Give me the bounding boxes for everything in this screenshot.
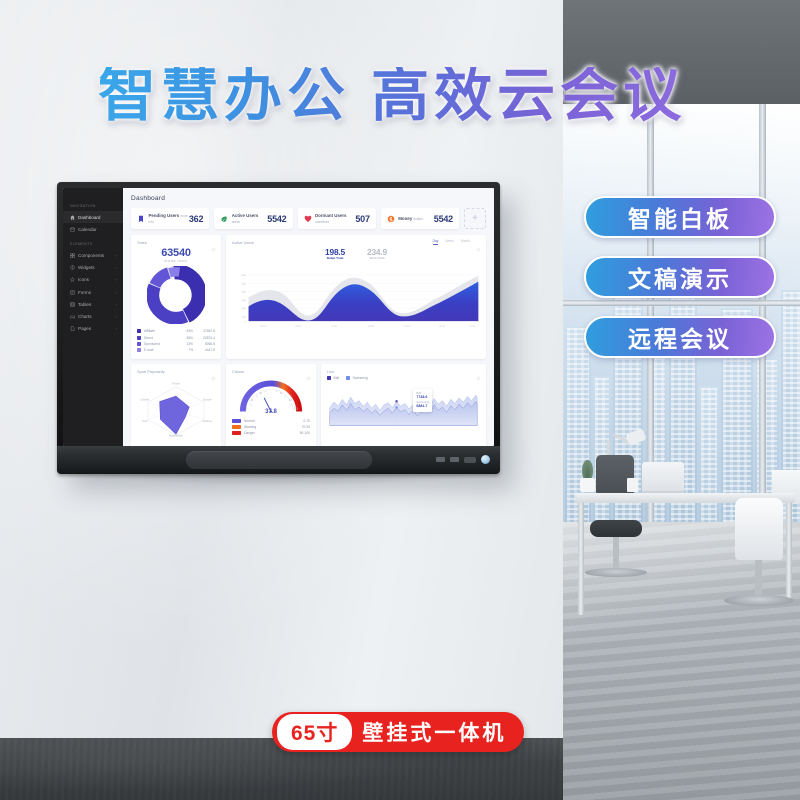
chevron-right-icon: › — [116, 314, 117, 319]
sidebar-item-label: Components — [78, 253, 104, 258]
laptop — [642, 462, 684, 494]
chevron-right-icon: › — [116, 253, 117, 258]
legend-amount: 8060.8 — [193, 342, 215, 346]
svg-text:Golf: Golf — [142, 418, 147, 422]
svg-text:1500: 1500 — [241, 300, 247, 302]
gear-icon[interactable] — [211, 368, 216, 373]
sidebar-section-navigation: NAVIGATION — [63, 197, 123, 211]
stat-value: 5542 — [434, 214, 453, 224]
sidebar-item-icons[interactable]: Icons › — [63, 274, 123, 286]
svg-text:Hockey: Hockey — [203, 418, 213, 422]
stat-sublabel: undefined — [315, 220, 329, 224]
claims-gauge-card: Claims — [226, 364, 316, 447]
gear-icon[interactable] — [476, 368, 481, 373]
legend-label: Ball — [334, 376, 340, 380]
port-cluster — [436, 455, 490, 464]
card-title: Sport Popularity — [137, 369, 215, 374]
sidebar-item-calendar[interactable]: Calendar — [63, 223, 123, 235]
legend-percent: 38% — [177, 336, 193, 340]
plant-pot — [580, 478, 595, 492]
grid-icon — [70, 253, 75, 258]
card-title: Claims — [232, 369, 310, 374]
stat-value: 5542 — [267, 214, 286, 224]
sales-total-value: 63540 — [137, 247, 215, 259]
legend-item: Ball — [327, 376, 339, 380]
legend-range: 0-70 — [288, 419, 310, 423]
stat-card-active-users[interactable]: Active Users active 5542 — [214, 208, 292, 229]
legend-swatch — [137, 342, 141, 346]
legend-item: Swimming — [346, 376, 368, 380]
svg-text:07-06: 07-06 — [295, 326, 301, 328]
pen-cup — [627, 478, 638, 492]
sidebar-item-label: Icons — [78, 277, 89, 282]
flow-total-label: Flow Total — [367, 256, 387, 260]
dollar-icon — [387, 215, 395, 223]
legend-amount: 4447.8 — [193, 348, 215, 352]
stat-label: Money dollars — [398, 216, 423, 222]
svg-text:2000: 2000 — [241, 292, 247, 294]
svg-text:100: 100 — [294, 407, 299, 410]
chair-post — [613, 537, 619, 571]
area-chart-tabs: Day Week Month — [433, 239, 470, 245]
sidebar-item-forms[interactable]: Forms › — [63, 286, 123, 298]
area-chart-plot: 3000 2500 2000 1500 1000 500 0 — [232, 262, 480, 336]
stat-card-pending-users[interactable]: Pending Users more info 362 — [131, 208, 209, 229]
legend-label: Direct — [144, 336, 177, 340]
svg-text:07-05: 07-05 — [261, 326, 267, 328]
donut-legend: Affiliate 44% 27867.8 Direct 38% 22874.4 — [137, 328, 215, 354]
form-icon — [70, 290, 75, 295]
feature-pill-whiteboard[interactable]: 智能白板 — [584, 196, 776, 238]
stat-value: 362 — [189, 214, 203, 224]
stat-value: 507 — [355, 214, 369, 224]
dashboard-content: Dashboard Pending Users more info — [123, 188, 494, 446]
sidebar-item-label: Tables — [78, 302, 91, 307]
feature-pill-conference[interactable]: 远程会议 — [584, 316, 776, 358]
tooltip-series-2-value: 6881.7 — [416, 404, 429, 409]
chart-row-2: Sport Popularity — [131, 364, 486, 447]
sidebar-item-label: Forms — [78, 290, 91, 295]
flow-total: 234.9 Flow Total — [367, 247, 387, 260]
desk-leg — [786, 503, 792, 599]
legend-label: Warning — [244, 425, 288, 429]
legend-amount: 22874.4 — [193, 336, 215, 340]
chart-row-1: Sales 63540 MORE INFO — [131, 235, 486, 359]
page-icon — [70, 326, 75, 331]
floor-right — [563, 522, 800, 800]
dashboard-sidebar: NAVIGATION Dashboard Calendar ELEMENTS C… — [63, 188, 123, 446]
svg-text:07-09: 07-09 — [405, 326, 411, 328]
potted-plant — [582, 460, 593, 480]
gauge-legend: Normal 0-70 Warning 70-90 — [232, 418, 310, 437]
leaf-icon — [220, 215, 228, 223]
poster-headline: 智慧办公 高效云会议 — [98, 67, 708, 125]
power-indicator-icon[interactable] — [481, 455, 490, 464]
legend-label: Normal — [244, 419, 288, 423]
stat-label: Pending Users more info — [149, 213, 189, 224]
line-chart-plot — [327, 381, 480, 437]
line-legend: Ball Swimming — [327, 376, 480, 380]
office-chair-light — [735, 498, 783, 560]
sidebar-item-label: Dashboard — [78, 215, 100, 220]
stat-label: Dormant Users undefined — [315, 213, 355, 224]
svg-text:60: 60 — [280, 391, 283, 394]
svg-text:Soccer: Soccer — [203, 397, 212, 401]
legend-amount: 27867.8 — [193, 329, 215, 333]
sidebar-item-label: Pages — [78, 326, 91, 331]
tab-week[interactable]: Week — [445, 239, 453, 245]
hdmi-port-icon — [450, 457, 459, 462]
sidebar-section-elements: ELEMENTS — [63, 235, 123, 249]
feature-pill-list: 智能白板 文稿演示 远程会议 — [584, 196, 784, 376]
svg-text:500: 500 — [243, 317, 247, 319]
svg-text:Basketball: Basketball — [170, 433, 183, 437]
legend-swatch — [137, 348, 141, 352]
chevron-right-icon: › — [116, 302, 117, 307]
legend-percent: 13% — [177, 342, 193, 346]
legend-swatch — [137, 336, 141, 340]
bullet-total-label: Bullet Total — [325, 256, 345, 260]
legend-label: Affiliate — [144, 329, 177, 333]
svg-text:2500: 2500 — [241, 283, 247, 285]
legend-swatch — [346, 376, 350, 380]
home-icon — [70, 215, 75, 220]
chair-post — [755, 560, 762, 598]
tab-day[interactable]: Day — [433, 239, 439, 245]
feature-pill-presentation[interactable]: 文稿演示 — [584, 256, 776, 298]
sidebar-item-widgets[interactable]: Widgets › — [63, 262, 123, 274]
badge-type-label: 壁挂式一体机 — [362, 717, 506, 747]
gear-icon[interactable] — [306, 368, 311, 373]
svg-text:0: 0 — [246, 407, 248, 410]
svg-text:07-11: 07-11 — [470, 326, 476, 328]
bullet-total: 198.5 Bullet Total — [325, 247, 345, 260]
legend-swatch — [137, 329, 141, 333]
hdmi-port-icon — [436, 457, 445, 462]
legend-swatch — [232, 431, 241, 435]
sales-donut-card: Sales 63540 MORE INFO — [131, 235, 221, 359]
desk-leg — [578, 503, 584, 615]
chevron-right-icon: › — [116, 326, 117, 331]
legend-range: 90-100 — [288, 431, 310, 435]
stat-card-row: Pending Users more info 362 Active Users — [131, 208, 486, 229]
svg-text:Cricket: Cricket — [140, 397, 149, 401]
sidebar-item-components[interactable]: Components › — [63, 249, 123, 261]
svg-text:1000: 1000 — [241, 308, 247, 310]
legend-label: Sponsored — [144, 342, 177, 346]
active-users-area-card: Active Users Day Week Month 198.5 Bull — [226, 235, 486, 359]
star-icon — [70, 277, 75, 282]
tab-month[interactable]: Month — [461, 239, 470, 245]
line-chart-card: Line Ball Swimming — [321, 364, 486, 447]
legend-label: E-mail — [144, 348, 177, 352]
donut-chart — [137, 266, 215, 324]
bookmark-icon — [137, 215, 145, 223]
legend-item: E-mail 7% 4447.8 — [137, 347, 215, 353]
stat-sublabel: active — [232, 220, 240, 224]
heart-icon — [304, 215, 312, 223]
svg-text:07-08: 07-08 — [368, 326, 374, 328]
legend-range: 70-90 — [288, 425, 310, 429]
legend-swatch — [327, 376, 331, 380]
legend-percent: 7% — [177, 348, 193, 352]
product-size-badge: 65寸 壁挂式一体机 — [272, 712, 524, 752]
office-chair-dark-seat — [590, 520, 642, 537]
card-title: Sales — [137, 240, 215, 245]
svg-text:80: 80 — [289, 399, 292, 402]
svg-text:Tennis: Tennis — [172, 381, 181, 385]
card-title: Line — [327, 369, 480, 374]
sidebar-item-dashboard[interactable]: Dashboard — [63, 211, 123, 223]
stat-card-dormant-users[interactable]: Dormant Users undefined 507 — [298, 208, 376, 229]
chevron-right-icon: › — [116, 277, 117, 282]
calendar-icon — [70, 227, 75, 232]
area-totals: 198.5 Bullet Total 234.9 Flow Total — [232, 247, 480, 260]
svg-text:40: 40 — [259, 391, 262, 394]
chair-base — [585, 568, 647, 577]
stat-card-money[interactable]: Money dollars 5542 — [381, 208, 459, 229]
sidebar-item-label: Charts — [78, 314, 92, 319]
table-icon — [70, 302, 75, 307]
legend-label: Danger — [244, 431, 288, 435]
chevron-right-icon: › — [116, 265, 117, 270]
svg-text:07-07: 07-07 — [332, 326, 338, 328]
svg-text:20: 20 — [250, 399, 253, 402]
wall-mounted-display: NAVIGATION Dashboard Calendar ELEMENTS C… — [57, 182, 500, 474]
legend-item: Danger 90-100 — [232, 430, 310, 436]
badge-size-label: 65寸 — [277, 714, 352, 750]
speaker-grille — [186, 451, 372, 469]
legend-percent: 44% — [177, 329, 193, 333]
sidebar-item-pages[interactable]: Pages › — [63, 323, 123, 335]
gear-icon[interactable] — [211, 239, 216, 244]
dashboard-app: NAVIGATION Dashboard Calendar ELEMENTS C… — [63, 188, 494, 446]
sport-popularity-card: Sport Popularity — [131, 364, 221, 447]
sales-more-info-label: MORE INFO — [137, 259, 215, 263]
legend-swatch — [232, 425, 241, 429]
chart-icon — [70, 314, 75, 319]
add-stat-card-button[interactable]: + — [464, 208, 486, 229]
stat-label: Active Users active — [232, 213, 268, 224]
sidebar-item-label: Calendar — [78, 227, 97, 232]
poster-canvas: 智慧办公 高效云会议 智能白板 文稿演示 远程会议 NAVIGATION Das… — [0, 0, 800, 800]
display-screen[interactable]: NAVIGATION Dashboard Calendar ELEMENTS C… — [63, 188, 494, 446]
widget-icon — [70, 265, 75, 270]
chevron-right-icon: › — [116, 290, 117, 295]
sidebar-item-label: Widgets — [78, 265, 95, 270]
gear-icon[interactable] — [476, 239, 481, 244]
usb-port-icon — [464, 457, 476, 463]
svg-text:3000: 3000 — [241, 275, 247, 277]
sidebar-item-tables[interactable]: Tables › — [63, 298, 123, 310]
line-chart-tooltip: Ball 7748.6 Swimming 6881.7 — [413, 389, 432, 412]
display-bottom-bezel: SMART — [57, 446, 500, 474]
sidebar-item-charts[interactable]: Charts › — [63, 310, 123, 322]
legend-label: Swimming — [353, 376, 368, 380]
stat-sublabel: dollars — [413, 217, 422, 221]
chair-base — [724, 595, 794, 606]
legend-swatch — [232, 419, 241, 423]
svg-text:07-10: 07-10 — [439, 326, 445, 328]
page-title: Dashboard — [131, 195, 486, 202]
radar-chart-plot: Tennis Soccer Hockey Basketball Golf Cri… — [137, 376, 215, 438]
svg-text:0: 0 — [245, 321, 247, 323]
